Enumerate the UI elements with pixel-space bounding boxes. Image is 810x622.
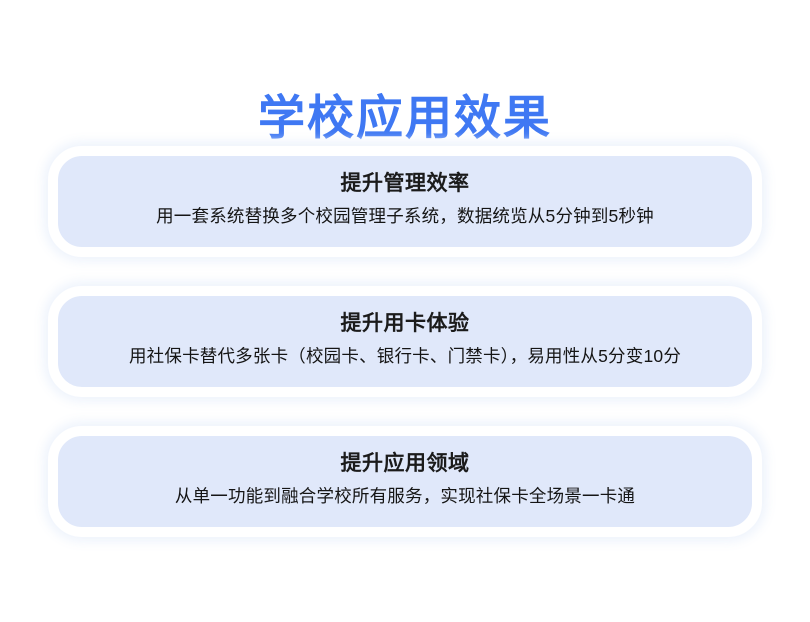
benefit-card-list: 提升管理效率 用一套系统替换多个校园管理子系统，数据统览从5分钟到5秒钟 提升用…: [0, 146, 810, 537]
benefit-card-heading: 提升用卡体验: [84, 309, 726, 339]
benefit-card-heading: 提升管理效率: [84, 169, 726, 199]
benefit-card-body: 用一套系统替换多个校园管理子系统，数据统览从5分钟到5秒钟: [84, 203, 726, 230]
page-title: 学校应用效果: [0, 89, 810, 147]
benefit-card: 提升应用领域 从单一功能到融合学校所有服务，实现社保卡全场景一卡通: [48, 426, 762, 537]
benefit-card-body: 用社保卡替代多张卡（校园卡、银行卡、门禁卡），易用性从5分变10分: [84, 343, 726, 370]
benefit-card: 提升管理效率 用一套系统替换多个校园管理子系统，数据统览从5分钟到5秒钟: [48, 146, 762, 257]
benefit-card-body: 从单一功能到融合学校所有服务，实现社保卡全场景一卡通: [84, 483, 726, 510]
benefit-card-heading: 提升应用领域: [84, 449, 726, 479]
school-application-effect-page: 学校应用效果 提升管理效率 用一套系统替换多个校园管理子系统，数据统览从5分钟到…: [0, 0, 810, 622]
benefit-card: 提升用卡体验 用社保卡替代多张卡（校园卡、银行卡、门禁卡），易用性从5分变10分: [48, 286, 762, 397]
